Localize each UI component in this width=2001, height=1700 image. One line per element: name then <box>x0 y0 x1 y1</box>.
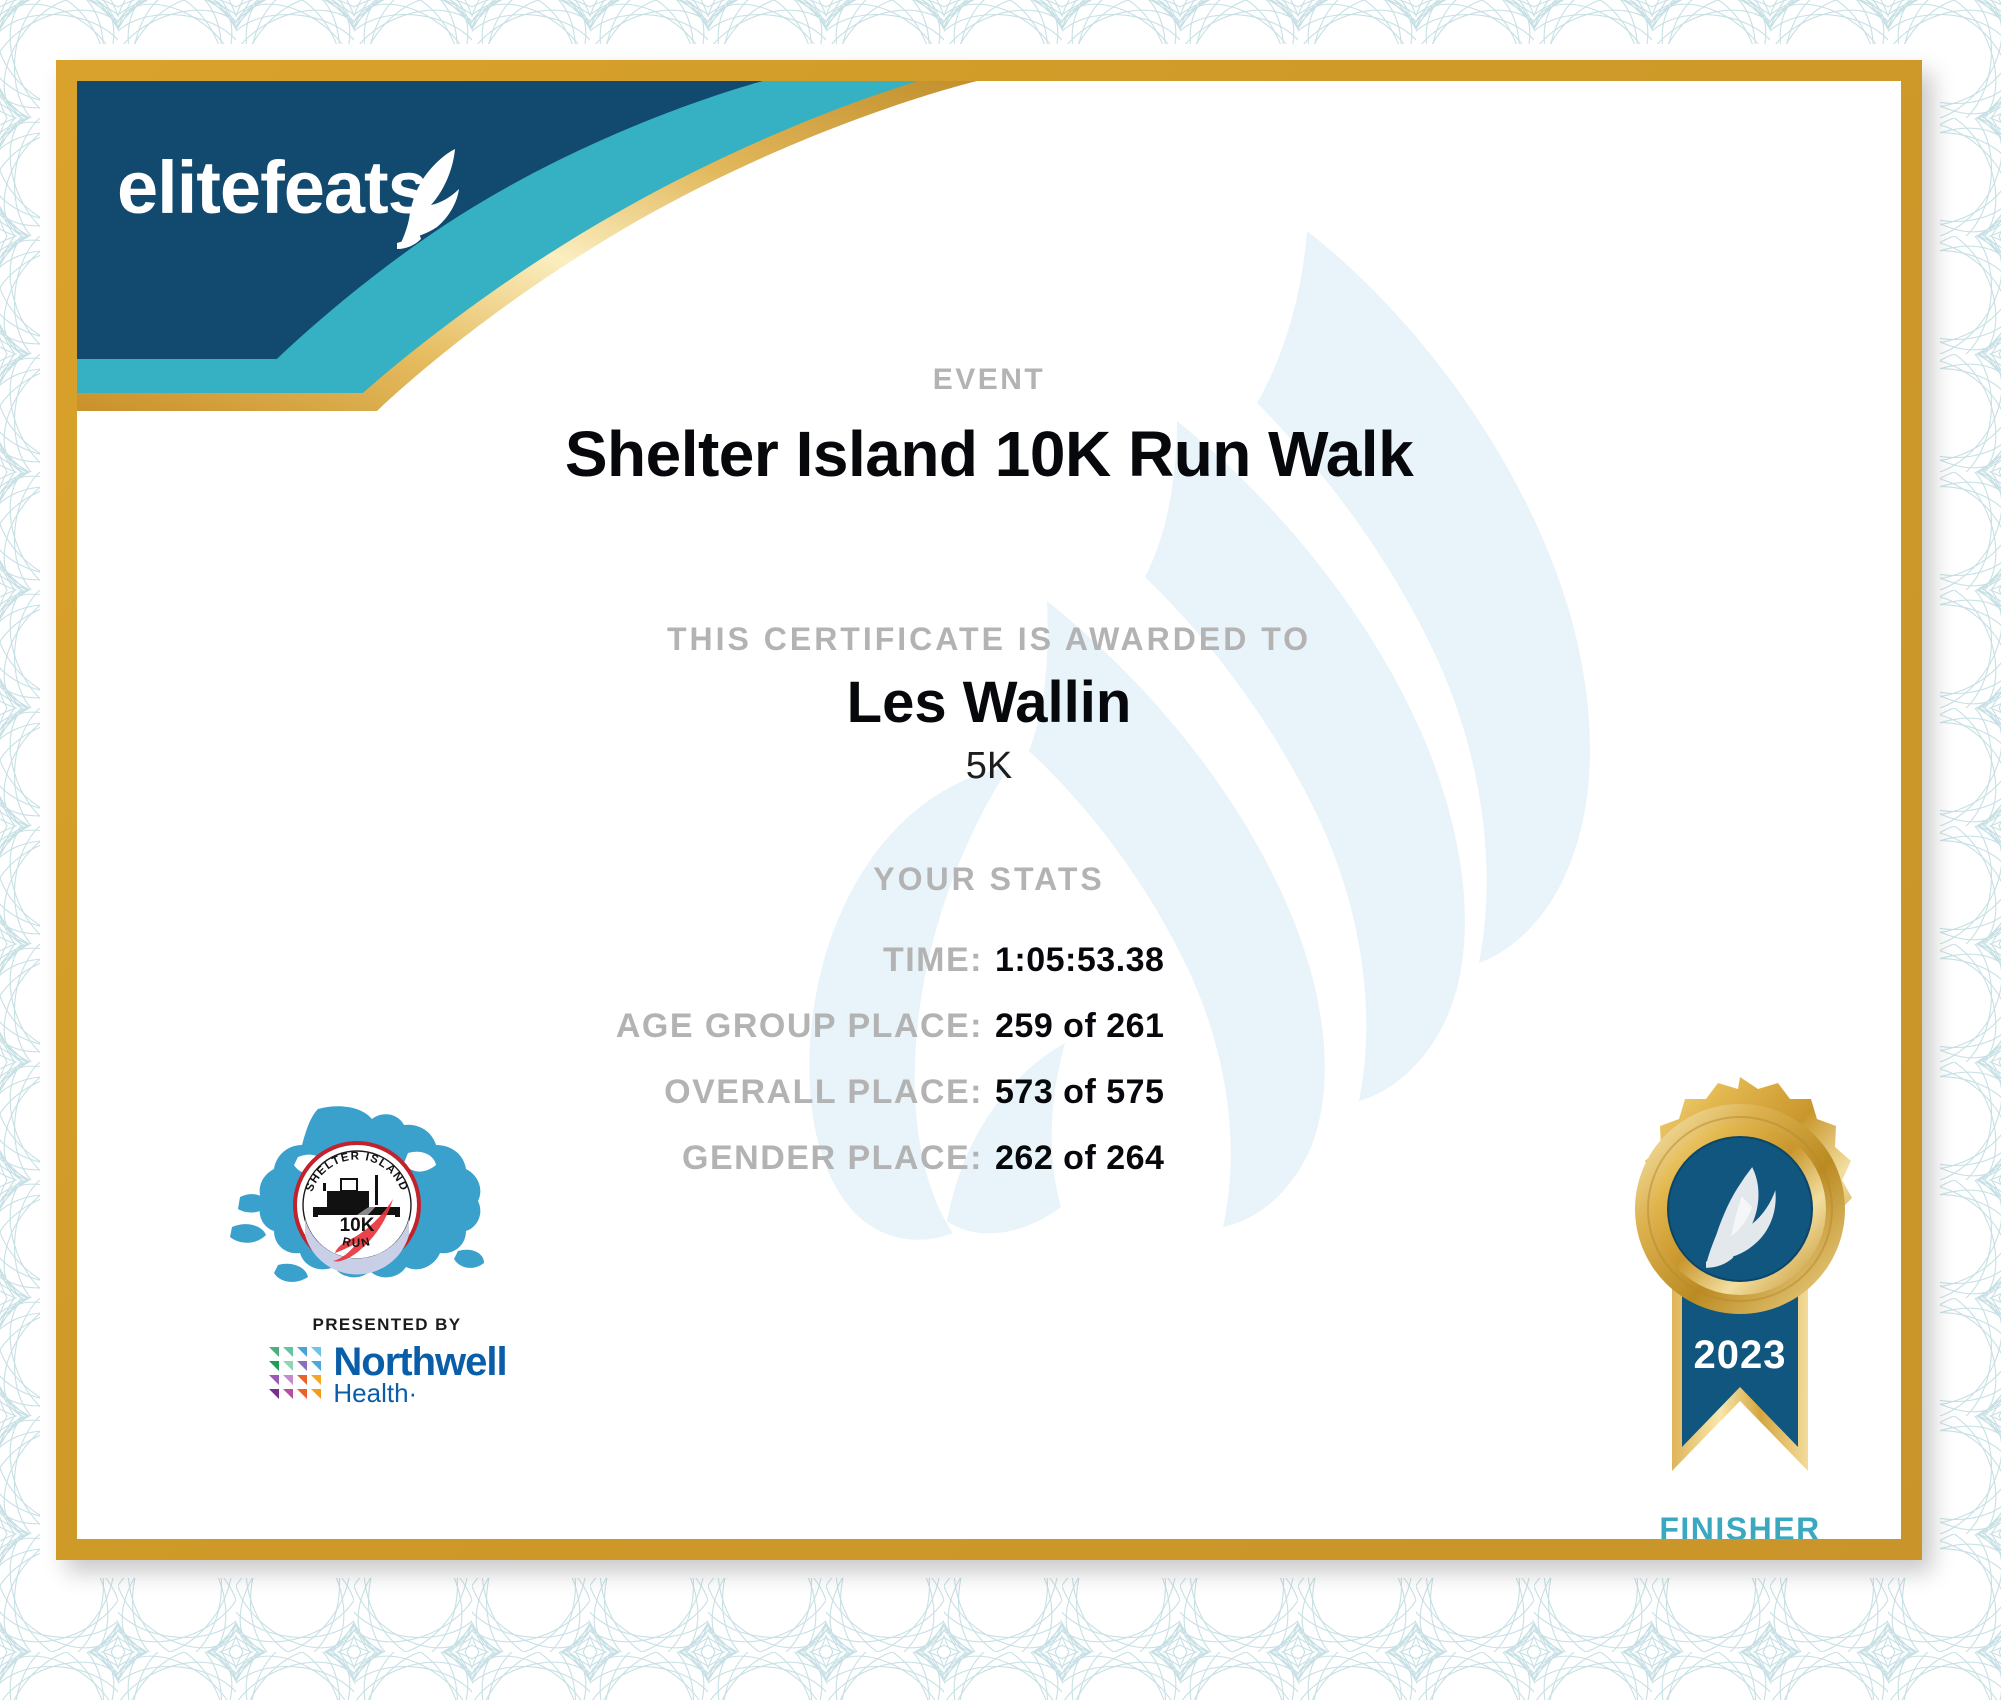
presented-by-label: PRESENTED BY <box>222 1315 552 1335</box>
stat-row-time: TIME: 1:05:53.38 <box>77 941 1901 1007</box>
certificate-body: elitefeats EVENT Shelter Island 10K Run … <box>77 81 1901 1539</box>
recipient-distance: 5K <box>77 745 1901 788</box>
sponsor-sub: Health· <box>333 1381 506 1406</box>
race-logo-block: 10K SHELTER ISLAND RUN <box>222 1101 552 1406</box>
gold-frame-border: elitefeats EVENT Shelter Island 10K Run … <box>56 60 1922 1560</box>
medal-ribbon-icon <box>1590 1071 1890 1501</box>
your-stats-label: YOUR STATS <box>77 861 1901 898</box>
stat-value-overall-place: 573 of 575 <box>995 1073 1555 1112</box>
awarded-to-label: THIS CERTIFICATE IS AWARDED TO <box>77 621 1901 658</box>
northwell-mark-icon <box>267 1345 325 1403</box>
stat-key-time: TIME: <box>423 941 995 980</box>
certificate-page: elitefeats EVENT Shelter Island 10K Run … <box>0 0 2001 1700</box>
event-title: Shelter Island 10K Run Walk <box>77 417 1901 491</box>
recipient-name: Les Wallin <box>77 669 1901 736</box>
sponsor-name: Northwell <box>333 1343 506 1381</box>
stat-key-age-group-place: AGE GROUP PLACE: <box>423 1007 995 1046</box>
badge-caption: FINISHER CERTIFICATE <box>1575 1512 1901 1539</box>
stat-row-age-group-place: AGE GROUP PLACE: 259 of 261 <box>77 1007 1901 1073</box>
stat-value-age-group-place: 259 of 261 <box>995 1007 1555 1046</box>
race-logo-ring-bottom-text: RUN <box>341 1236 373 1250</box>
event-label: EVENT <box>77 363 1901 397</box>
race-logo-center-text: 10K <box>340 1215 375 1236</box>
shelter-island-10k-run-logo: 10K SHELTER ISLAND RUN <box>222 1101 492 1311</box>
finisher-badge: 2023 FINISHER CERTIFICATE <box>1575 1071 1901 1539</box>
badge-year: 2023 <box>1575 1333 1901 1378</box>
stat-value-time: 1:05:53.38 <box>995 941 1555 980</box>
svg-text:elitefeats: elitefeats <box>117 146 428 229</box>
badge-caption-line1: FINISHER <box>1575 1512 1901 1539</box>
elitefeats-logo: elitefeats <box>117 139 477 249</box>
stat-value-gender-place: 262 of 264 <box>995 1139 1555 1178</box>
sponsor-logo: Northwell Health· <box>222 1343 552 1406</box>
